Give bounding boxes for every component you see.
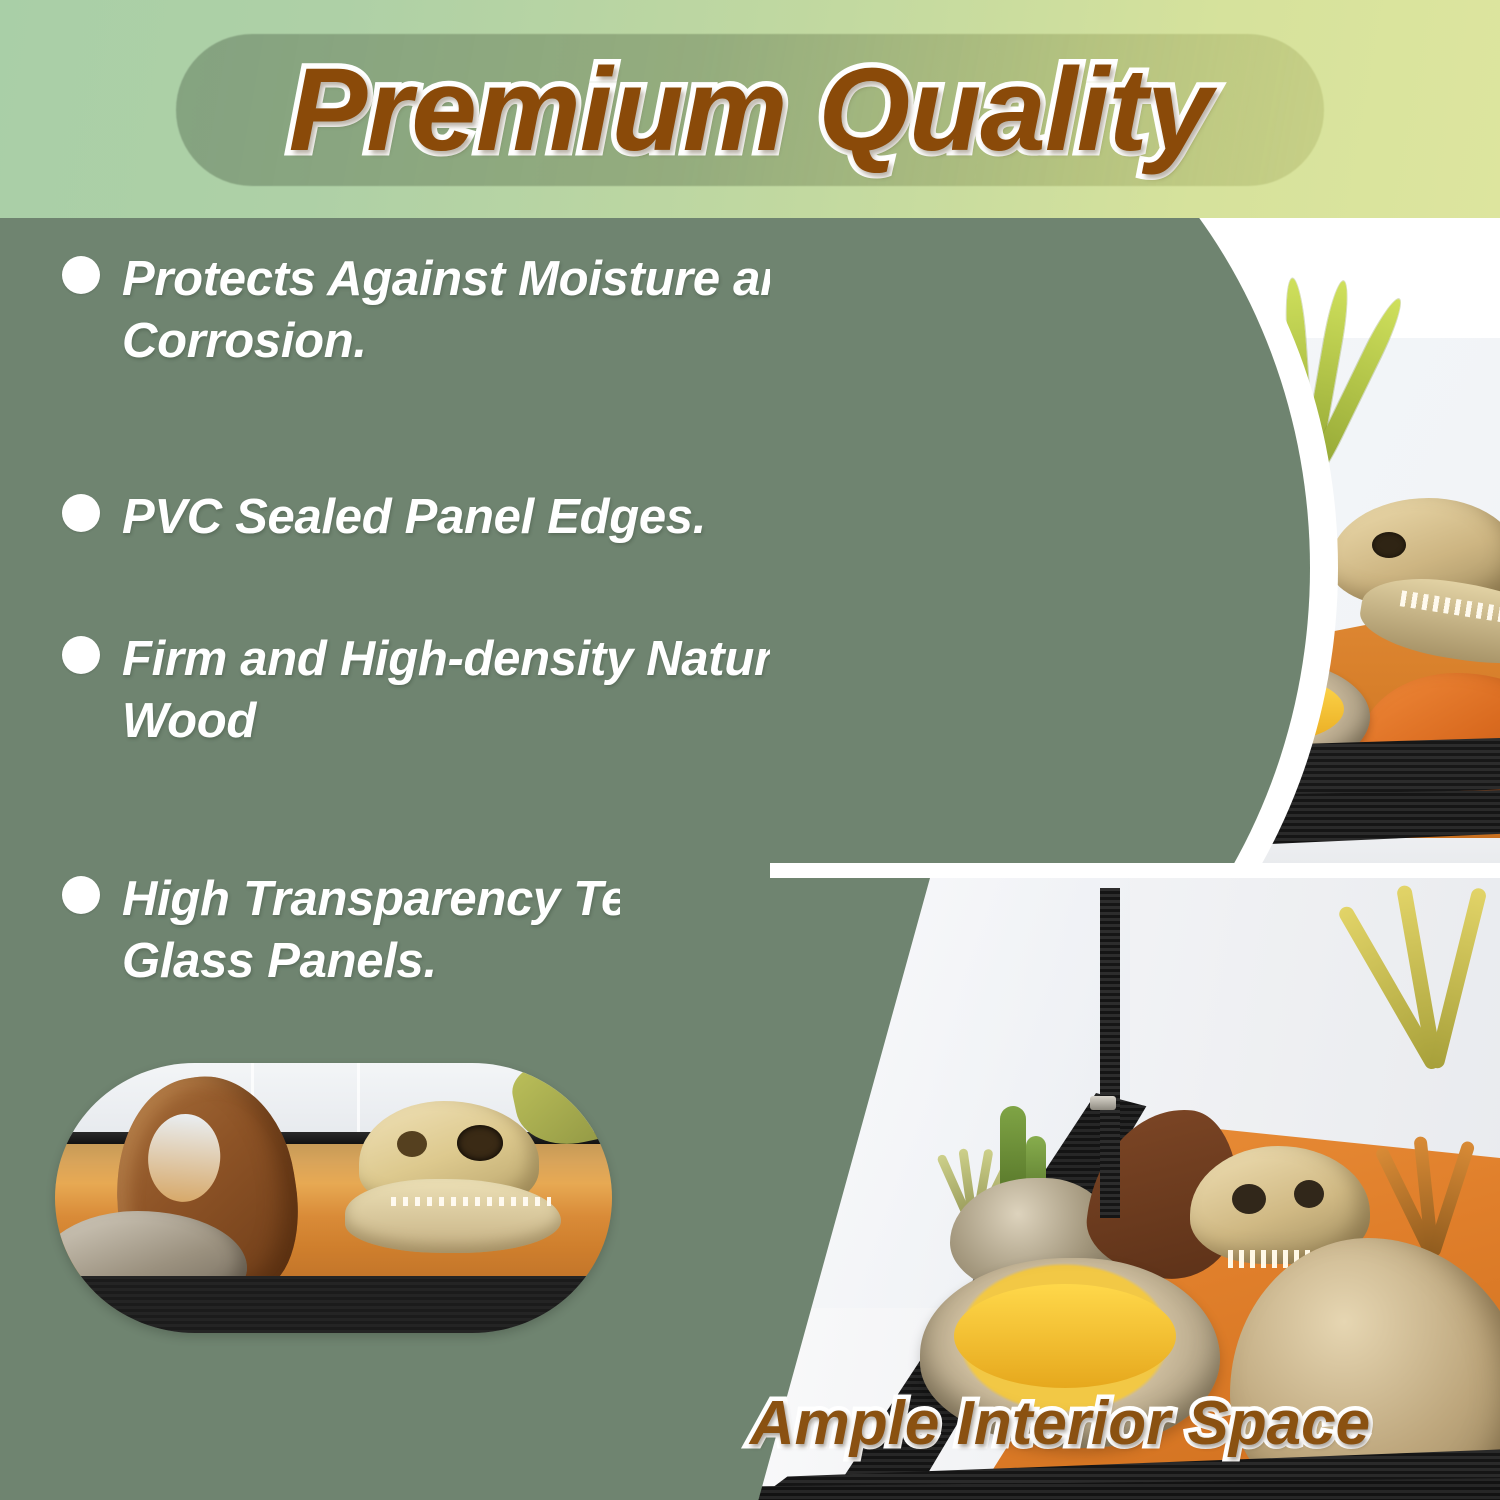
skull-eye-socket: [1372, 532, 1406, 558]
skull-eye-socket: [1294, 1180, 1324, 1208]
plant-leaf: [1426, 1140, 1475, 1258]
photo-curved-mask: [770, 218, 1310, 863]
page-title: Premium Quality: [0, 36, 1500, 184]
feature-item-1: Protects Against Moisture and Corrosion.: [62, 248, 862, 372]
photo-bottom-left: [55, 1063, 612, 1333]
dinosaur-skull-decor: [345, 1101, 575, 1291]
tank-base-panel: [55, 1276, 612, 1333]
fern-plant-decor: [1350, 878, 1500, 1068]
feature-item-3: Firm and High-density Natural Wood: [62, 628, 862, 752]
bullet-dot-icon: [62, 636, 100, 674]
screw-icon: [1090, 1096, 1116, 1110]
feature-item-2-label: PVC Sealed Panel Edges.: [122, 486, 706, 548]
bullet-dot-icon: [62, 876, 100, 914]
photo-top-right: [770, 218, 1500, 863]
bullet-dot-icon: [62, 256, 100, 294]
skull-eye-socket: [1232, 1184, 1266, 1214]
feature-item-1-label: Protects Against Moisture and Corrosion.: [122, 248, 862, 372]
feature-item-3-label: Firm and High-density Natural Wood: [122, 628, 862, 752]
fern-frond: [1428, 887, 1487, 1070]
tank-corner-post: [1100, 888, 1120, 1218]
photo-caption: Ample Interior Space: [620, 1382, 1500, 1466]
header-banner: Premium Quality: [0, 0, 1500, 218]
skull-eye-socket: [397, 1131, 427, 1157]
bullet-dot-icon: [62, 494, 100, 532]
infographic-root: Premium Quality Protects Against Moistur…: [0, 0, 1500, 1500]
skull-eye-socket: [457, 1125, 503, 1161]
feature-item-2: PVC Sealed Panel Edges.: [62, 486, 706, 548]
dinosaur-skull-decor: [1330, 498, 1500, 698]
